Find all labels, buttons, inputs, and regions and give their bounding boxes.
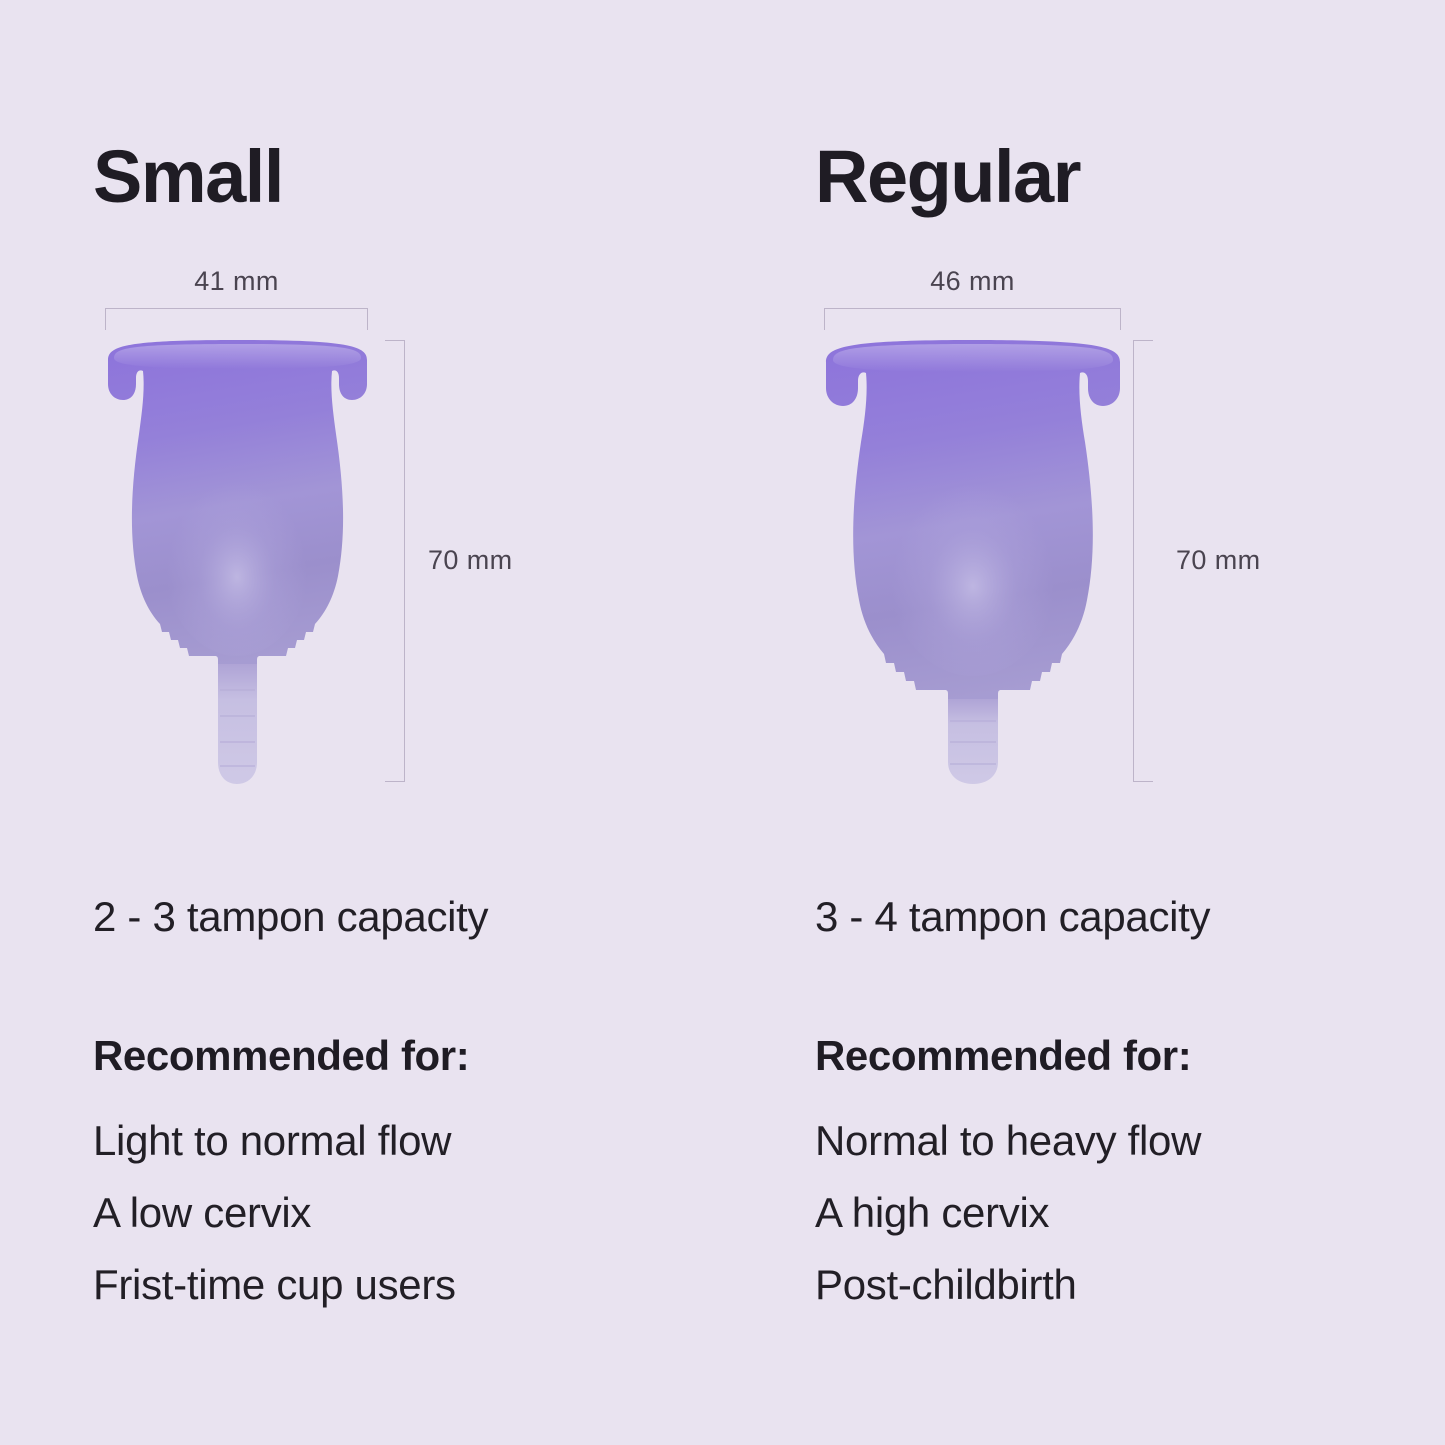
height-bracket-small: [385, 340, 405, 782]
infographic-canvas: Small 41 mm: [0, 0, 1445, 1445]
height-label-regular: 70 mm: [1176, 545, 1261, 576]
width-bracket-small: [105, 308, 368, 330]
size-title-regular: Regular: [815, 140, 1080, 214]
list-item: Light to normal flow: [93, 1105, 456, 1177]
recommended-heading-small: Recommended for:: [93, 1032, 469, 1080]
width-bracket-regular: [824, 308, 1121, 330]
list-item: A high cervix: [815, 1177, 1201, 1249]
cup-illustration-small: [100, 338, 375, 788]
width-label-small: 41 mm: [105, 266, 368, 297]
recommended-list-regular: Normal to heavy flow A high cervix Post-…: [815, 1105, 1201, 1321]
height-label-small: 70 mm: [428, 545, 513, 576]
capacity-text-regular: 3 - 4 tampon capacity: [815, 893, 1210, 941]
cup-rim-shine-small: [114, 344, 361, 369]
list-item: A low cervix: [93, 1177, 456, 1249]
size-title-small: Small: [93, 140, 283, 214]
cup-glow-regular: [885, 452, 1061, 676]
list-item: Frist-time cup users: [93, 1249, 456, 1321]
height-bracket-regular: [1133, 340, 1153, 782]
product-column-regular: Regular 46 mm: [722, 0, 1445, 1445]
product-column-small: Small 41 mm: [0, 0, 722, 1445]
cup-rim-shine-regular: [833, 344, 1113, 372]
list-item: Normal to heavy flow: [815, 1105, 1201, 1177]
recommended-list-small: Light to normal flow A low cervix Frist-…: [93, 1105, 456, 1321]
recommended-heading-regular: Recommended for:: [815, 1032, 1191, 1080]
cup-illustration-regular: [818, 338, 1128, 788]
list-item: Post-childbirth: [815, 1249, 1201, 1321]
width-label-regular: 46 mm: [824, 266, 1121, 297]
cup-glow-small: [161, 448, 313, 656]
capacity-text-small: 2 - 3 tampon capacity: [93, 893, 488, 941]
